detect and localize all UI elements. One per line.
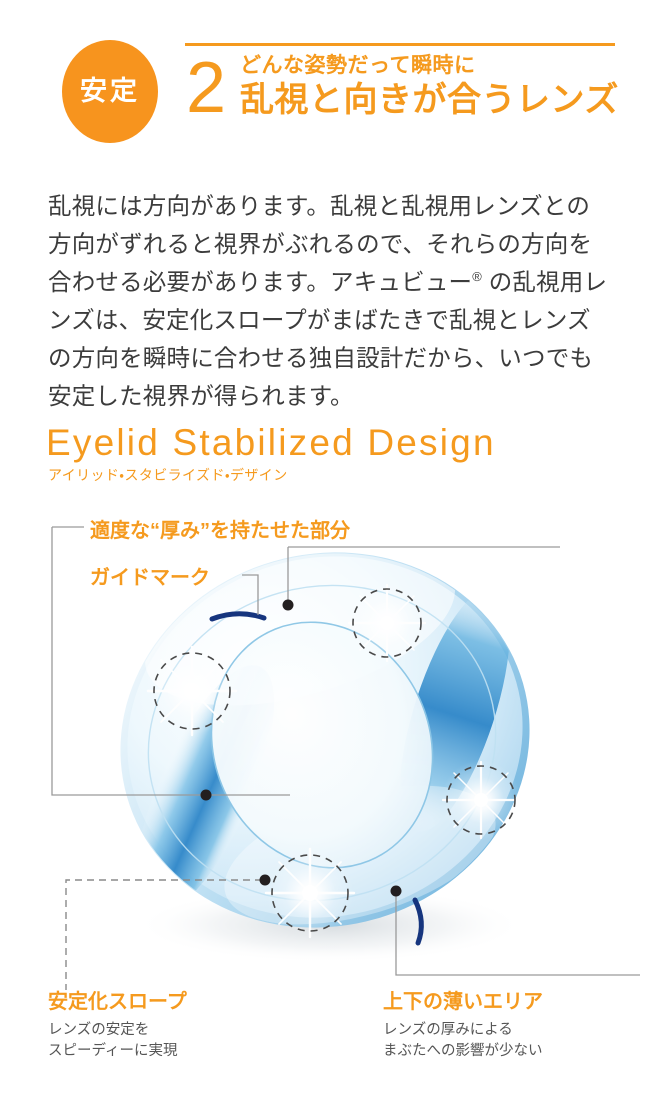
thin-desc-line1: レンズの厚みによる	[383, 1022, 513, 1038]
thin-desc-line2: まぶたへの影響が少ない	[383, 1043, 543, 1059]
header: 安定 2 どんな姿勢だって瞬時に 乱視と向きが合うレンズ	[0, 0, 650, 150]
slope-desc-line1: レンズの安定を	[48, 1022, 149, 1038]
callout-thickness: 適度な“厚み”を持たせた部分	[90, 519, 350, 543]
callout-thin-area-desc: レンズの厚みによる まぶたへの影響が少ない	[383, 1020, 543, 1062]
sparkle-bottom	[266, 849, 354, 937]
slope-desc-line2: スピーディーに実現	[48, 1043, 177, 1059]
leader-dot-bottom-sparkle	[260, 875, 271, 886]
leader-dot-thin-area	[391, 886, 402, 897]
section-title-jp: アイリッド・スタビライズド・デザイン	[48, 468, 288, 482]
header-text-group: どんな姿勢だって瞬時に 乱視と向きが合うレンズ	[240, 53, 640, 120]
body-paragraph: 乱視には方向があります。乱視と乱視用レンズとの方向がずれると視界がぶれるので、そ…	[48, 187, 608, 415]
section-title-en: Eyelid Stabilized Design	[46, 424, 496, 461]
header-divider	[185, 43, 615, 46]
callout-stabilization-slope-desc: レンズの安定を スピーディーに実現	[48, 1020, 187, 1062]
leader-dot-thickness	[283, 600, 294, 611]
leader-dot-left-band	[201, 790, 212, 801]
sparkle-right	[441, 760, 521, 840]
sparkle-top-right	[347, 583, 427, 663]
callout-thin-area-title: 上下の薄いエリア	[383, 990, 543, 1014]
sparkle-left	[148, 647, 236, 735]
page-title: 乱視と向きが合うレンズ	[240, 81, 640, 120]
callout-thin-area: 上下の薄いエリア レンズの厚みによる まぶたへの影響が少ない	[383, 990, 543, 1062]
callout-stabilization-slope: 安定化スロープ レンズの安定を スピーディーに実現	[48, 990, 187, 1062]
header-subtitle: どんな姿勢だって瞬時に	[240, 53, 640, 79]
callout-stabilization-slope-title: 安定化スロープ	[48, 990, 187, 1014]
trademark-symbol: ®	[472, 269, 482, 284]
status-badge: 安定	[62, 40, 158, 143]
callout-guide-mark: ガイドマーク	[90, 566, 210, 590]
section-number: 2	[186, 52, 226, 124]
badge-label: 安定	[80, 78, 140, 105]
